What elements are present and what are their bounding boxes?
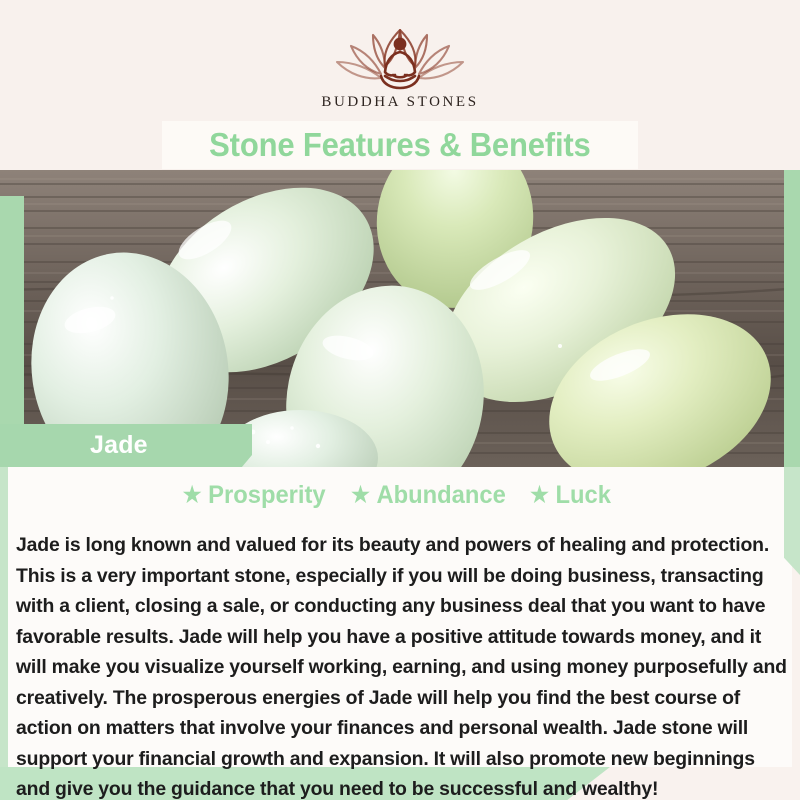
- brand-name: BUDDHA STONES: [321, 94, 478, 111]
- benefit-item-prosperity: ★ Prosperity: [183, 481, 326, 510]
- benefit-label: Prosperity: [208, 481, 325, 510]
- stone-description: Jade is long known and valued for its be…: [16, 530, 788, 800]
- stone-name: Jade: [90, 431, 148, 460]
- photo-right-accent-strip: [784, 170, 800, 467]
- benefits-row: ★ Prosperity ★ Abundance ★ Luck: [0, 478, 792, 512]
- lotus-meditation-figure-icon: [325, 18, 475, 90]
- star-icon: ★: [351, 484, 370, 506]
- benefit-item-abundance: ★ Abundance: [351, 481, 506, 510]
- star-icon: ★: [183, 484, 202, 506]
- star-icon: ★: [530, 484, 549, 506]
- benefit-label: Abundance: [377, 481, 506, 510]
- infographic-card: BUDDHA STONES Stone Features & Benefits …: [0, 0, 800, 800]
- benefit-label: Luck: [556, 481, 611, 510]
- stone-name-band: Jade: [0, 424, 252, 467]
- jade-stones-photo: [0, 170, 800, 467]
- brand-logo: BUDDHA STONES: [0, 18, 800, 111]
- page-title: Stone Features & Benefits: [209, 126, 590, 164]
- section-title-band: Stone Features & Benefits: [162, 121, 638, 169]
- benefit-item-luck: ★ Luck: [530, 481, 611, 510]
- panel-left-accent-strip: [0, 467, 8, 767]
